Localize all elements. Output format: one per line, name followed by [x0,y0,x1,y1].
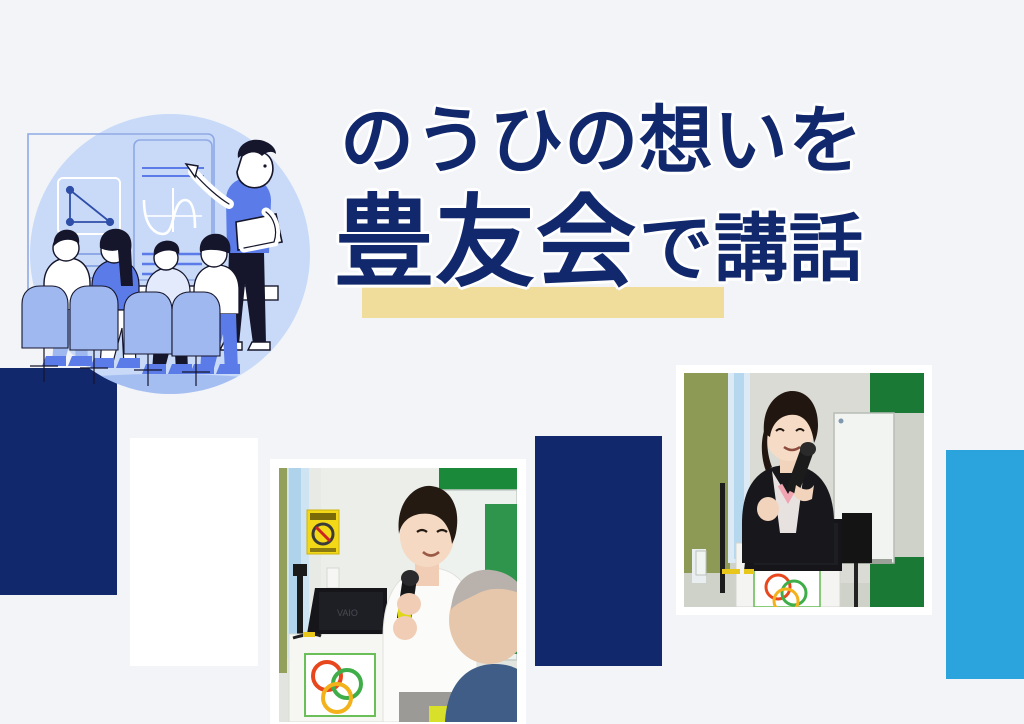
white-block [130,438,258,666]
poster-canvas: のうひの想いを 豊友会 で講話 [0,0,1024,724]
page-title: のうひの想いを 豊友会 で講話 [334,104,994,292]
chair-1 [22,286,68,348]
fist [757,497,779,521]
title-suffix-text: で講話 [639,212,864,292]
spray-bottle [696,551,706,575]
navy-block-middle [535,436,662,666]
speaker-box [842,513,872,563]
chair-4 [172,292,220,356]
photo-speaker-white-image: VAIO [279,468,517,722]
green-wall-panel [870,373,924,413]
hand-lower [393,616,417,640]
hand-upper [397,593,421,615]
floor-shadow [29,374,299,406]
svg-text:VAIO: VAIO [337,608,358,618]
chair-3 [124,292,172,354]
photo-speaker-white: VAIO [270,459,526,724]
green-wall-lower [870,557,924,607]
chair-2 [70,286,118,350]
photo-speaker-suit: VAIO [676,365,932,615]
title-emphasis-text: 豊友会 [334,194,637,292]
title-line-2: 豊友会 で講話 [334,194,994,292]
photo-speaker-suit-image: VAIO [684,373,924,607]
lecture-presentation-illustration [14,104,326,416]
cyan-block-right [946,450,1024,679]
caution-sign [307,510,339,554]
olive-strip [279,468,287,673]
title-line-1: のうひの想いを [340,104,994,178]
